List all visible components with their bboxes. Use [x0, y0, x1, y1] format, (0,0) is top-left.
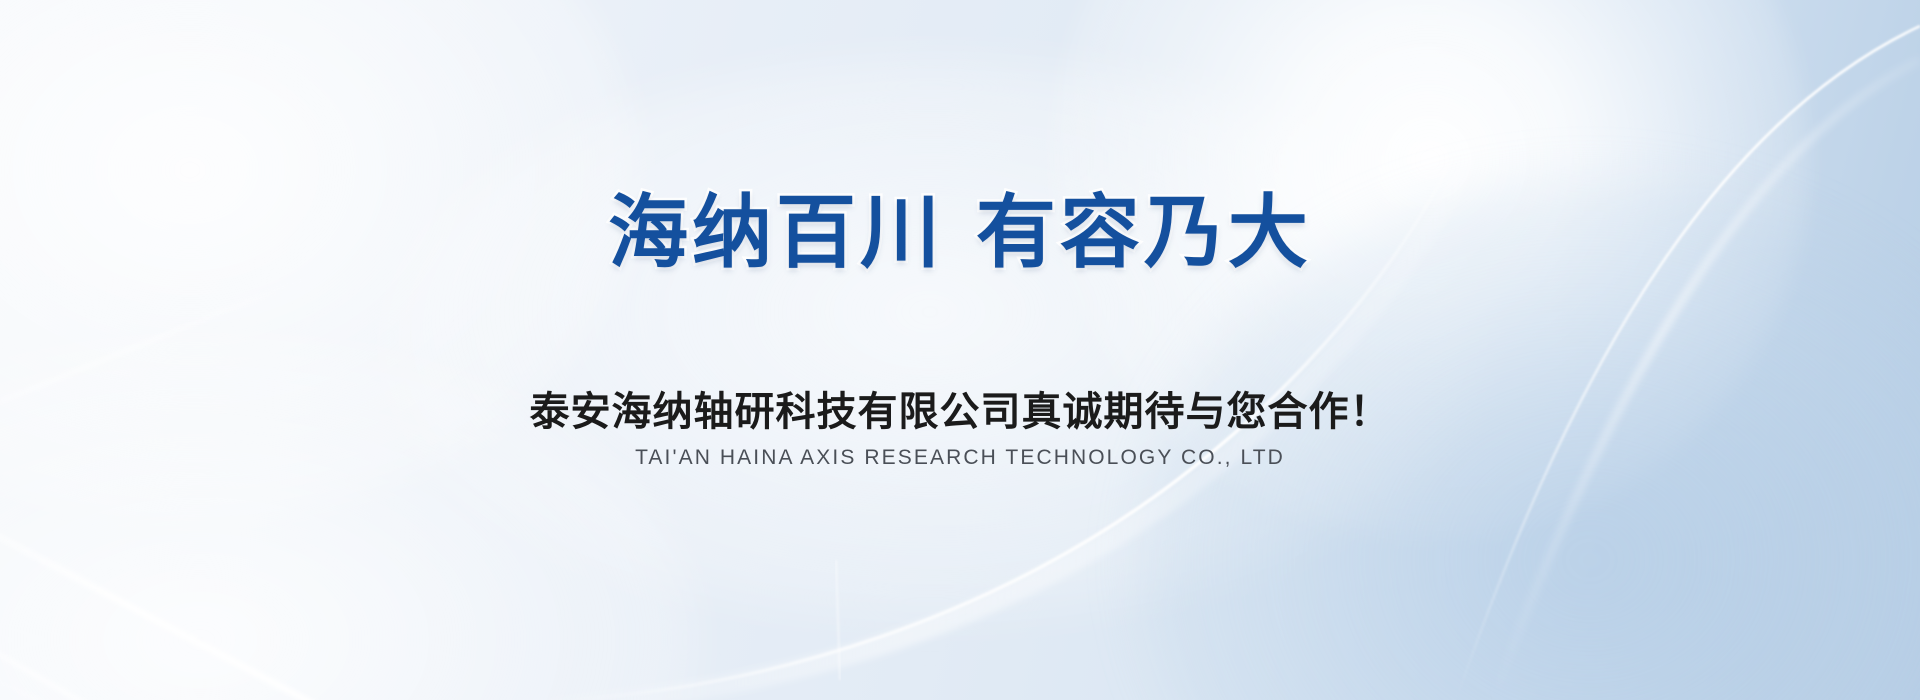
- banner-subtitle-english: TAI'AN HAINA AXIS RESEARCH TECHNOLOGY CO…: [0, 446, 1920, 470]
- banner-subtitle-chinese: 泰安海纳轴研科技有限公司真诚期待与您合作！: [0, 379, 1920, 437]
- banner-content: 海纳百川 有容乃大 泰安海纳轴研科技有限公司真诚期待与您合作！ TAI'AN H…: [0, 0, 1920, 700]
- hero-banner: 海纳百川 有容乃大 泰安海纳轴研科技有限公司真诚期待与您合作！ TAI'AN H…: [0, 0, 1920, 700]
- banner-headline: 海纳百川 有容乃大: [0, 190, 1920, 276]
